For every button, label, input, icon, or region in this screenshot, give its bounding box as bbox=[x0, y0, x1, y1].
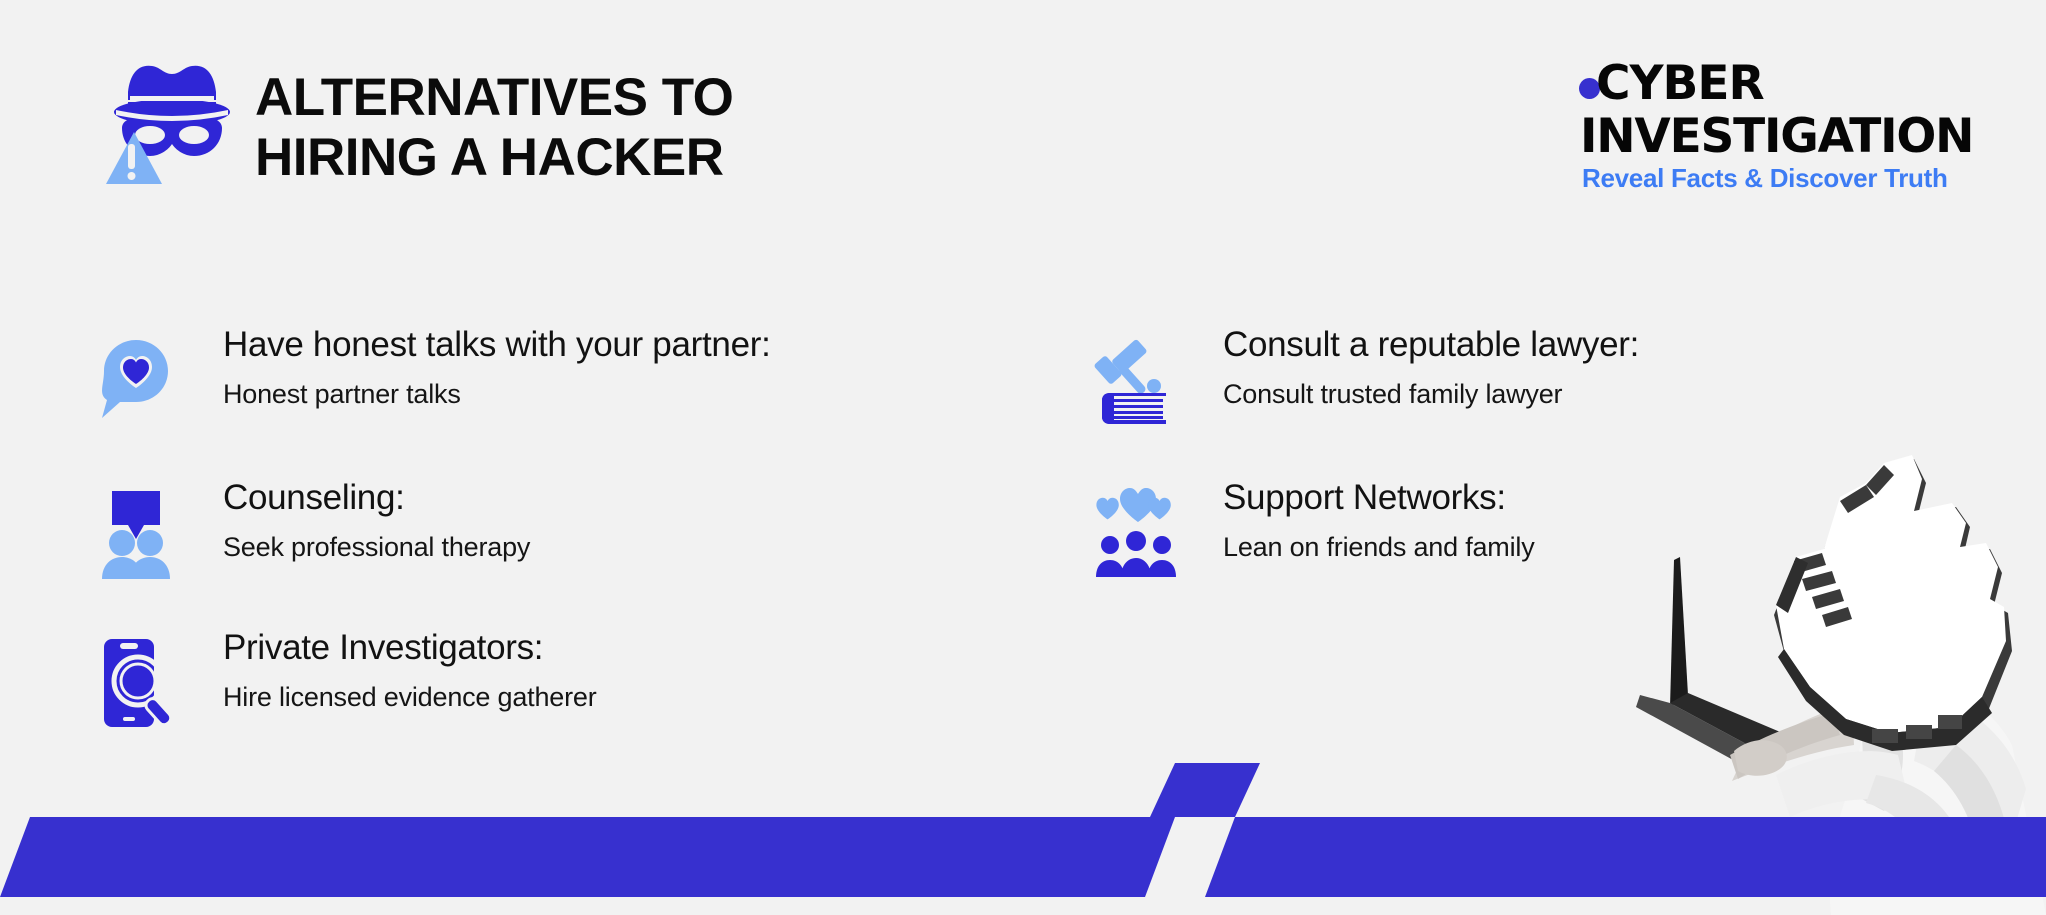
brand-logo: CYBER INVESTIGATION Reveal Facts & Disco… bbox=[1574, 62, 1994, 190]
list-item-text: Consult a reputable lawyer: Consult trus… bbox=[1223, 326, 1639, 409]
list-item-subtitle: Seek professional therapy bbox=[223, 533, 530, 563]
logo-tagline: Reveal Facts & Discover Truth bbox=[1582, 163, 2002, 194]
list-item-text: Counseling: Seek professional therapy bbox=[223, 479, 530, 562]
title-line-2: HIRING A HACKER bbox=[255, 128, 733, 188]
list-item-title: Have honest talks with your partner: bbox=[223, 326, 771, 365]
page-title: ALTERNATIVES TO HIRING A HACKER bbox=[255, 68, 733, 189]
hacker-hat-mask-warning-icon bbox=[76, 52, 236, 192]
list-item-text: Private Investigators: Hire licensed evi… bbox=[223, 629, 597, 712]
list-item-subtitle: Hire licensed evidence gatherer bbox=[223, 683, 597, 713]
counseling-people-icon bbox=[90, 483, 182, 583]
list-item-text: Have honest talks with your partner: Hon… bbox=[223, 326, 771, 409]
speech-bubble-heart-icon bbox=[90, 330, 182, 430]
title-line-1: ALTERNATIVES TO bbox=[255, 68, 733, 128]
phone-magnifier-icon bbox=[90, 633, 182, 733]
list-item-subtitle: Honest partner talks bbox=[223, 380, 771, 410]
list-item-subtitle: Consult trusted family lawyer bbox=[1223, 380, 1639, 410]
list-item-title: Counseling: bbox=[223, 479, 530, 518]
logo-word-cyber: CYBER bbox=[1596, 60, 1764, 107]
bottom-banner bbox=[0, 755, 2046, 915]
banner-bar-left bbox=[0, 817, 1175, 897]
header: ALTERNATIVES TO HIRING A HACKER CYBER IN… bbox=[0, 0, 2046, 230]
banner-bar-right bbox=[1205, 817, 2046, 897]
list-item-subtitle: Lean on friends and family bbox=[1223, 533, 1535, 563]
list-item-text: Support Networks: Lean on friends and fa… bbox=[1223, 479, 1535, 562]
list-item-title: Support Networks: bbox=[1223, 479, 1535, 518]
content-grid: Have honest talks with your partner: Hon… bbox=[0, 330, 2046, 750]
hearts-people-icon bbox=[1090, 483, 1182, 583]
list-item-title: Consult a reputable lawyer: bbox=[1223, 326, 1639, 365]
list-item-title: Private Investigators: bbox=[223, 629, 597, 668]
banner-accent-shape bbox=[1150, 763, 1260, 817]
logo-word-investigation: INVESTIGATION bbox=[1580, 112, 2000, 161]
gavel-lawbook-icon bbox=[1090, 330, 1182, 430]
